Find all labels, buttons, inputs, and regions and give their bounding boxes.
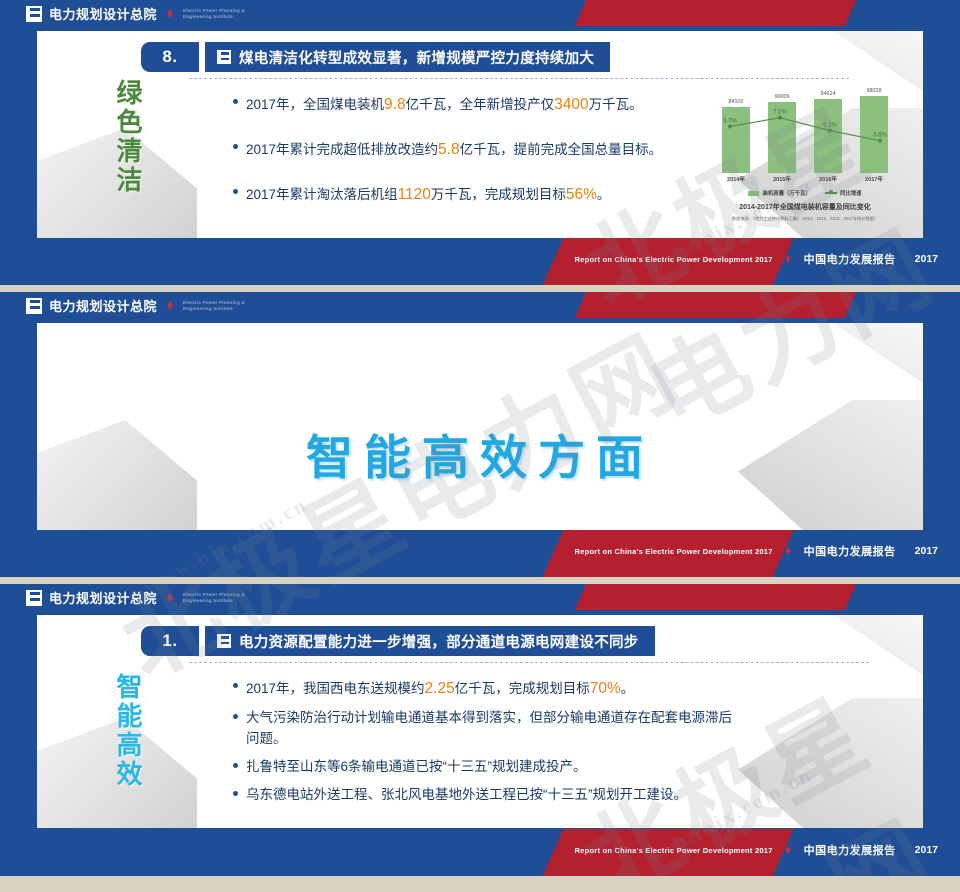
footer-diamond-icon — [786, 547, 791, 555]
bullet-text: 大气污染防治行动计划输电通道基本得到落实，但部分输电通道存在配套电源滞后问题。 — [246, 708, 733, 750]
highlight-value: 5.8 — [438, 141, 460, 158]
slide-gap-3 — [0, 876, 960, 892]
list-item: 扎鲁特至山东等6条输电通道已按“十三五”规划建成投产。 — [233, 757, 733, 778]
footer-diamond-icon — [786, 846, 791, 854]
bar-column: 98028 — [860, 75, 888, 173]
bullet-dot-icon — [233, 791, 238, 796]
bullet-dot-icon — [233, 144, 238, 149]
footer-report-cn: 中国电力发展报告 — [804, 251, 896, 267]
list-item: 2017年累计完成超低排放改造约5.8亿千瓦，提前完成全国总量目标。 — [233, 138, 713, 162]
bar-column: 84102 — [722, 75, 750, 173]
footer-report-cn: 中国电力发展报告 — [804, 842, 896, 858]
highlight-value: 56% — [566, 186, 597, 203]
title-logo-icon — [217, 50, 231, 64]
diamond-icon — [167, 9, 173, 18]
slide-deck: 电力规划设计总院 Electric Power Planning & Engin… — [0, 0, 960, 892]
bar-value-label: 90009 — [775, 94, 790, 100]
bar-column: 90009 — [768, 75, 796, 173]
slide-2: 电力规划设计总院 Electric Power Planning & Engin… — [0, 292, 960, 577]
bullet-text: 2017年累计淘汰落后机组1120万千瓦，完成规划目标56%。 — [246, 183, 610, 207]
slide-3-footer: Report on China's Electric Power Develop… — [0, 829, 960, 876]
coal-capacity-chart: 84102900099462498028 5.7%7.0%5.1%3.6% 20… — [705, 75, 905, 225]
bullet-text: 扎鲁特至山东等6条输电通道已按“十三五”规划建成投产。 — [246, 757, 587, 778]
header-red-shape — [572, 0, 858, 26]
footer-year: 2017 — [915, 253, 938, 265]
x-tick-label: 2016年 — [814, 175, 842, 183]
chart-plot-area: 84102900099462498028 5.7%7.0%5.1%3.6% — [705, 75, 905, 173]
bar — [860, 96, 888, 173]
highlight-value: 3400 — [554, 96, 588, 113]
institute-logo-icon — [26, 590, 42, 606]
slide-1-footer: Report on China's Electric Power Develop… — [0, 238, 960, 285]
slide-3-content-card: 1. 电力资源配置能力进一步增强，部分通道电源电网建设不同步 智能高效 2017… — [37, 615, 923, 828]
highlight-value: 70% — [590, 680, 621, 697]
slide-1: 电力规划设计总院 Electric Power Planning & Engin… — [0, 0, 960, 285]
slide-1-title-bar: 煤电清洁化转型成效显著，新增规模严控力度持续加大 — [205, 42, 610, 72]
legend-swatch-bar-icon — [748, 191, 759, 196]
list-item: 2017年，全国煤电装机9.8亿千瓦，全年新增投产仅3400万千瓦。 — [233, 93, 713, 117]
legend-item-line: 同比增速 — [825, 189, 862, 197]
brand-logo: 电力规划设计总院 Electric Power Planning & Engin… — [26, 296, 245, 315]
bullet-text: 2017年累计完成超低排放改造约5.8亿千瓦，提前完成全国总量目标。 — [246, 138, 662, 162]
footer-text-group: Report on China's Electric Power Develop… — [575, 842, 939, 858]
slide-3-title-row: 1. 电力资源配置能力进一步增强，部分通道电源电网建设不同步 — [141, 626, 655, 656]
footer-diamond-icon — [786, 255, 791, 263]
chart-bars: 84102900099462498028 — [705, 75, 905, 173]
slide-1-title-row: 8. 煤电清洁化转型成效显著，新增规模严控力度持续加大 — [141, 42, 610, 72]
x-tick-label: 2014年 — [722, 175, 750, 183]
title-logo-icon — [217, 634, 231, 648]
legend-label-bar: 装机容量（万千瓦） — [762, 189, 811, 197]
brand-name-cn: 电力规划设计总院 — [49, 296, 157, 315]
legend-swatch-line-icon — [825, 192, 837, 194]
diamond-icon — [167, 301, 173, 310]
brand-name-en: Electric Power Planning & Engineering In… — [183, 300, 245, 311]
slide-2-content-card: 智能高效方面 — [37, 323, 923, 530]
bar — [722, 107, 750, 173]
highlight-value: 1120 — [398, 186, 431, 203]
chart-title: 2014-2017年全国煤电装机容量及同比变化 — [705, 202, 905, 212]
section-divider-title: 智能高效方面 — [37, 419, 923, 488]
header-red-shape — [572, 584, 858, 610]
brand-name-cn: 电力规划设计总院 — [49, 4, 157, 23]
footer-report-en: Report on China's Electric Power Develop… — [575, 547, 773, 556]
list-item: 2017年累计淘汰落后机组1120万千瓦，完成规划目标56%。 — [233, 183, 713, 207]
footer-year: 2017 — [915, 844, 938, 856]
bullet-dot-icon — [233, 763, 238, 768]
bullet-text: 2017年，全国煤电装机9.8亿千瓦，全年新增投产仅3400万千瓦。 — [246, 93, 643, 117]
footer-text-group: Report on China's Electric Power Develop… — [575, 251, 939, 267]
slide-gap-1 — [0, 285, 960, 292]
slide-1-side-label: 绿色清洁 — [95, 79, 141, 195]
slide-3-divider — [189, 662, 869, 663]
brand-logo: 电力规划设计总院 Electric Power Planning & Engin… — [26, 588, 245, 607]
decor-corner-bottom-right — [738, 698, 923, 828]
bullet-text: 2017年，我国西电东送规模约2.25亿千瓦，完成规划目标70%。 — [246, 677, 634, 701]
bullet-dot-icon — [233, 714, 238, 719]
brand-name-cn: 电力规划设计总院 — [49, 588, 157, 607]
slide-1-content-card: 8. 煤电清洁化转型成效显著，新增规模严控力度持续加大 绿色清洁 2017年，全… — [37, 31, 923, 238]
brand-logo: 电力规划设计总院 Electric Power Planning & Engin… — [26, 4, 245, 23]
chart-x-axis-labels: 2014年2015年2016年2017年 — [705, 175, 905, 183]
decor-corner-top-right — [833, 615, 923, 675]
slide-3-bullet-list: 2017年，我国西电东送规模约2.25亿千瓦，完成规划目标70%。 大气污染防治… — [233, 677, 733, 813]
x-tick-label: 2017年 — [860, 175, 888, 183]
x-tick-label: 2015年 — [768, 175, 796, 183]
highlight-value: 2.25 — [425, 680, 455, 697]
footer-text-group: Report on China's Electric Power Develop… — [575, 543, 939, 559]
slide-1-title: 煤电清洁化转型成效显著，新增规模严控力度持续加大 — [239, 47, 594, 68]
footer-year: 2017 — [915, 545, 938, 557]
institute-logo-icon — [26, 298, 42, 314]
chart-source-note: 数据来源：《电力工业统计资料汇编》（2014、2015、2016、2017年统计… — [705, 216, 905, 222]
slide-2-footer: Report on China's Electric Power Develop… — [0, 530, 960, 577]
legend-item-bar: 装机容量（万千瓦） — [748, 189, 811, 197]
slide-1-bullet-list: 2017年，全国煤电装机9.8亿千瓦，全年新增投产仅3400万千瓦。 2017年… — [233, 93, 713, 228]
footer-report-cn: 中国电力发展报告 — [804, 543, 896, 559]
brand-name-en: Electric Power Planning & Engineering In… — [183, 8, 245, 19]
slide-3-title-bar: 电力资源配置能力进一步增强，部分通道电源电网建设不同步 — [205, 626, 655, 656]
bullet-dot-icon — [233, 189, 238, 194]
bar-value-label: 94624 — [821, 91, 836, 97]
bar — [814, 99, 842, 173]
list-item: 2017年，我国西电东送规模约2.25亿千瓦，完成规划目标70%。 — [233, 677, 733, 701]
legend-label-line: 同比增速 — [840, 189, 862, 197]
chart-legend: 装机容量（万千瓦） 同比增速 — [705, 189, 905, 197]
header-red-shape — [572, 292, 858, 318]
highlight-value: 9.8 — [384, 96, 406, 113]
decor-corner-top-right — [833, 323, 923, 383]
list-item: 大气污染防治行动计划输电通道基本得到落实，但部分输电通道存在配套电源滞后问题。 — [233, 708, 733, 750]
bullet-text: 乌东德电站外送工程、张北风电基地外送工程已按“十三五”规划开工建设。 — [246, 785, 687, 806]
institute-logo-icon — [26, 6, 42, 22]
diamond-icon — [167, 593, 173, 602]
bar-value-label: 84102 — [729, 99, 744, 105]
bar-column: 94624 — [814, 75, 842, 173]
brand-name-en: Electric Power Planning & Engineering In… — [183, 592, 245, 603]
slide-1-number: 8. — [141, 42, 199, 72]
bullet-dot-icon — [233, 683, 238, 688]
slide-3-number: 1. — [141, 626, 199, 656]
footer-report-en: Report on China's Electric Power Develop… — [575, 255, 773, 264]
footer-report-en: Report on China's Electric Power Develop… — [575, 846, 773, 855]
slide-3-title: 电力资源配置能力进一步增强，部分通道电源电网建设不同步 — [239, 631, 639, 652]
bullet-dot-icon — [233, 99, 238, 104]
slide-gap-2 — [0, 577, 960, 584]
list-item: 乌东德电站外送工程、张北风电基地外送工程已按“十三五”规划开工建设。 — [233, 785, 733, 806]
slide-3-side-label: 智能高效 — [95, 673, 141, 789]
slide-3: 电力规划设计总院 Electric Power Planning & Engin… — [0, 584, 960, 876]
bar-value-label: 98028 — [867, 88, 882, 94]
bar — [768, 102, 796, 173]
